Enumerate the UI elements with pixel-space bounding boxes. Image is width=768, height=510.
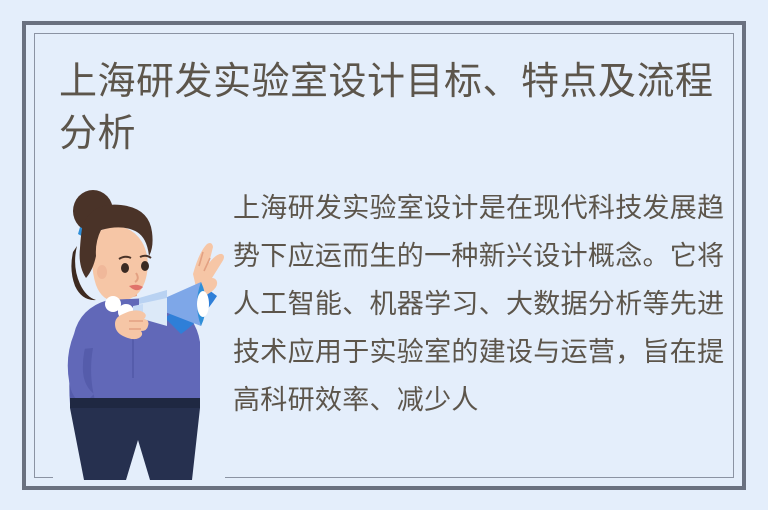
article-card-inner-frame: 上海研发实验室设计目标、特点及流程分析 (34, 33, 734, 478)
waistband (70, 398, 200, 408)
eye-right (141, 261, 149, 271)
eye-left (121, 263, 129, 273)
article-content-row: 上海研发实验室设计是在现代科技发展趋势下应运而生的一种新兴设计概念。它将人工智能… (35, 180, 733, 477)
article-card: 上海研发实验室设计目标、特点及流程分析 (22, 21, 746, 490)
megaphone-mouth (197, 291, 209, 317)
woman-with-megaphone-illustration (53, 180, 225, 480)
ear (97, 265, 107, 279)
illustration-svg (53, 180, 225, 480)
page-title: 上海研发实验室设计目标、特点及流程分析 (59, 56, 719, 160)
article-body: 上海研发实验室设计是在现代科技发展趋势下应运而生的一种新兴设计概念。它将人工智能… (233, 184, 739, 424)
